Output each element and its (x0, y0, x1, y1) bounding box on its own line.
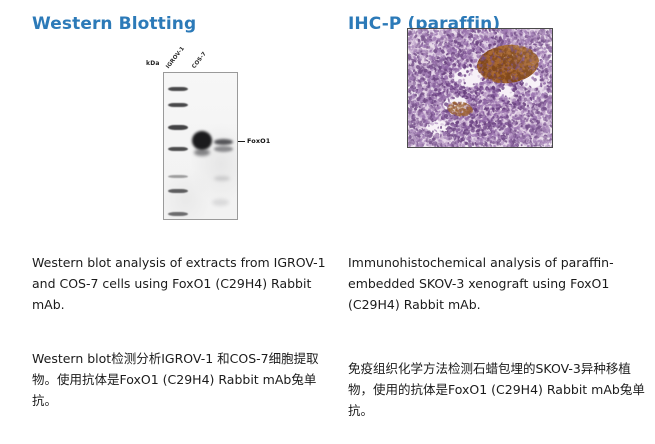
sample-band (214, 146, 233, 152)
sample-band (214, 139, 233, 145)
ladder-marker-band (168, 87, 188, 92)
western-blot-figure: kDa IGROV-1 COS-7 20014010080605040 FoxO… (106, 44, 286, 224)
ladder-marker-band (168, 189, 188, 193)
sample-band (214, 176, 230, 181)
page-root: Western Blotting kDa IGROV-1 COS-7 20014… (0, 0, 655, 444)
sample-band (212, 199, 229, 206)
sample-band (192, 131, 212, 150)
sample-band (194, 149, 210, 156)
caption-chinese-ihc: 免疫组织化学方法检测石蜡包埋的SKOV-3异种移植物，使用的抗体是FoxO1 (… (348, 358, 648, 421)
caption-english-ihc-text: Immunohistochemical analysis of paraffin… (348, 252, 648, 315)
leader-line-icon (238, 141, 245, 142)
lane-label-cos7: COS-7 (191, 51, 208, 70)
ladder-marker-band (168, 212, 188, 216)
ladder-marker-band (168, 125, 188, 130)
lane-label-igrov1: IGROV-1 (165, 46, 186, 70)
lane-label-group: IGROV-1 COS-7 (168, 44, 288, 72)
caption-chinese-ihc-text: 免疫组织化学方法检测石蜡包埋的SKOV-3异种移植物，使用的抗体是FoxO1 (… (348, 358, 648, 421)
caption-english-western-text: Western blot analysis of extracts from I… (32, 252, 332, 315)
band-label-foxo1: FoxO1 (247, 137, 270, 145)
caption-chinese-western: Western blot检测分析IGROV-1 和COS-7细胞提取物。使用抗体… (32, 348, 332, 411)
ladder-marker-band (168, 147, 188, 152)
ihc-micrograph-image (408, 29, 552, 147)
ihc-micrograph-figure (407, 28, 553, 148)
band-annotation-foxo1: FoxO1 (238, 137, 270, 145)
ladder-marker-band (168, 103, 188, 108)
blot-membrane: 20014010080605040 (163, 72, 238, 220)
caption-english-ihc: Immunohistochemical analysis of paraffin… (348, 252, 648, 315)
caption-chinese-western-text: Western blot检测分析IGROV-1 和COS-7细胞提取物。使用抗体… (32, 348, 332, 411)
page-title-western-blotting: Western Blotting (32, 14, 196, 34)
ladder-marker-band (168, 175, 188, 178)
caption-english-western: Western blot analysis of extracts from I… (32, 252, 332, 315)
kda-axis-label: kDa (146, 60, 160, 67)
